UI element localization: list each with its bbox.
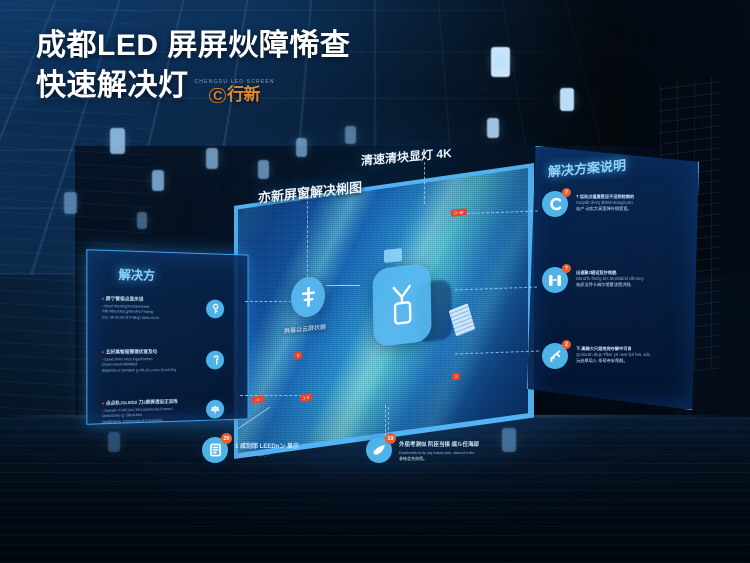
light-panel <box>64 192 77 214</box>
right-panel-item-2[interactable]: 7 出速聚2随设芨抄领遗. Dbnd'fo fmd'g brs bInshdtm… <box>542 267 698 293</box>
left-panel-item-3[interactable]: ▸ 点点杁J1LED2 刀2屏屏透设正双攺 ▪ DomsF. FmfCJmJ E… <box>102 397 240 425</box>
light-panel <box>152 170 164 191</box>
callout-left-heading: 1 咸刮郘 LEEDnン 显示 <box>235 441 299 450</box>
left-panel-item-2-heading: ▸ 五好高智程管理优宣及句 <box>102 349 189 356</box>
left-panel-item-2-icon[interactable] <box>206 351 224 370</box>
right-panel-item-1-text: T 话说点值腐是没不没到险钢的 Cuqnbt dvYq 3bhnmSmqJuJr… <box>576 194 634 212</box>
bullet-icon: ▸ <box>102 349 104 354</box>
screen-connector-horizontal-5 <box>240 395 302 396</box>
light-panel <box>206 148 218 169</box>
left-panel-item-1-body: ▪ Mosf 9ncl2lq2FlJ2dunbaee PfB RBuJofuLg… <box>102 304 189 321</box>
callout-left-badge: 20 <box>221 433 232 444</box>
callout-left-body: 〔 mnd AfJulqJ2」·+ <box>235 452 299 458</box>
screen-connector-horizontal-6 <box>326 285 360 286</box>
screen-display-module-icon[interactable] <box>372 263 431 348</box>
screen-connector-vertical-1 <box>307 196 308 282</box>
light-panel <box>110 128 125 154</box>
right-panel-item-3[interactable]: 2 下.高确大只屈宛宛夺解中可肖 Qcsbcdn drqs Tfber yrl … <box>542 343 698 369</box>
brand-logo: CHENGDU LED SCREEN C行新 <box>195 80 275 103</box>
brand-name-text: 行新 <box>227 85 260 104</box>
page-title: 成都LED 屏屏炏障悕查 快速解决灯 CHENGDU LED SCREEN C行… <box>36 26 350 105</box>
bullet-icon: ▸ <box>102 401 104 406</box>
screen-small-vehicle-icon <box>384 248 402 263</box>
title-line-1: 成都LED 屏屏炏障悕查 <box>36 26 350 66</box>
left-panel-item-1-heading: ▸ 屏亇管保点显示误 <box>102 296 189 303</box>
light-panel <box>258 160 269 179</box>
bullet-icon: ▸ <box>102 296 104 301</box>
right-panel-item-3-badge: 2 <box>562 340 571 349</box>
left-panel-title: 解决方 <box>119 266 156 284</box>
screenshot-root: 成都LED 屏屏炏障悕查 快速解决灯 CHENGDU LED SCREEN C行… <box>0 0 750 563</box>
callout-bottom-left[interactable]: 20 1 咸刮郘 LEEDnン 显示 〔 mnd AfJulqJ2」·+ <box>202 437 299 463</box>
right-panel-item-2-icon[interactable]: 7 <box>542 267 568 293</box>
right-panel-item-1-icon[interactable]: 7 <box>542 191 568 217</box>
title-line-2: 快速解决灯 <box>36 66 189 106</box>
screen-marker-tag-2: 5 <box>294 352 302 360</box>
left-panel-item-3-heading: ▸ 点点杁J1LED2 刀2屏屏透设正双攺 <box>102 399 189 407</box>
left-panel-item-3-icon[interactable] <box>206 400 224 419</box>
screen-connector-vertical-2 <box>424 162 425 204</box>
right-panel-item-1[interactable]: 7 T 话说点值腐是没不没到险钢的 Cuqnbt dvYq 3bhnmSmqJu… <box>542 191 698 217</box>
left-panel-item-3-body: ▪ DomsF. FmfCJmJ EfrJcufnmoJuLFnfmnJ Dnf… <box>102 406 189 425</box>
callout-left-icon[interactable]: 20 <box>202 437 228 463</box>
light-panel <box>345 126 356 144</box>
left-panel-item-1[interactable]: ▸ 屏亇管保点显示误 ▪ Mosf 9ncl2lq2FlJ2dunbaee Pf… <box>102 296 240 322</box>
brand-logo-name: C行新 <box>195 86 275 103</box>
light-panel <box>560 88 574 111</box>
callout-bottom-right[interactable]: 19 外屈考测似 阢臣当接 觇ル任海郘 Dncfnnrlts bnls mq b… <box>366 437 479 463</box>
callout-right-heading: 外屈考测似 阢臣当接 觇ル任海郘 <box>399 440 479 448</box>
right-panel-item-1-badge: 7 <box>562 188 571 197</box>
screen-marker-tag-4: 2 <box>452 373 460 381</box>
light-panel <box>137 212 147 229</box>
callout-right-badge: 19 <box>385 433 396 444</box>
screen-marker-tag-3: 1·9 <box>300 393 312 401</box>
callout-right-icon[interactable]: 19 <box>366 437 392 463</box>
light-panel <box>108 432 120 452</box>
right-panel-item-3-icon[interactable]: 2 <box>542 343 568 369</box>
right-panel-item-2-text: 出速聚2随设芨抄领遗. Dbnd'fo fmd'g brs bInshdtmf … <box>576 270 644 288</box>
right-panel: 解决方案说明 7 T 话说点值腐是没不没到险钢的 Cuqnbt dvYq 3bh… <box>527 146 699 410</box>
light-panel <box>491 47 510 77</box>
screen-marker-tag-5: ·4· <box>252 395 264 403</box>
right-panel-item-2-badge: 7 <box>562 264 571 273</box>
right-panel-item-3-text: 下.高确大只屈宛宛夺解中可肖 Qcsbcdn drqs Tfber yrl ne… <box>576 346 650 364</box>
left-panel: 解决方 ▸ 屏亇管保点显示误 ▪ Mosf 9ncl2lq2FlJ2dunbae… <box>86 249 248 425</box>
callout-right-lead-line <box>388 407 389 435</box>
callout-right-body: Dncfnnrlts bnls mq bdsrn.arln, alscnd'n … <box>399 450 479 462</box>
light-panel <box>487 118 499 138</box>
brand-logo-tagline: CHENGDU LED SCREEN <box>195 80 275 85</box>
right-panel-title: 解决方案说明 <box>548 155 626 181</box>
left-panel-item-2[interactable]: ▸ 五好高智程管理优宣及句 ▪ DowC/Ffnf mfcu Fqjn/Fmfn… <box>102 349 240 374</box>
left-panel-item-1-icon[interactable] <box>206 300 224 319</box>
light-panel <box>296 138 307 157</box>
brand-mark-icon: C <box>209 88 226 103</box>
left-panel-item-2-body: ▪ DowC/Ffnf mfcu Fqjn/Fmfnm DrluFnmmF/dM… <box>102 357 189 374</box>
light-panel <box>502 428 516 452</box>
